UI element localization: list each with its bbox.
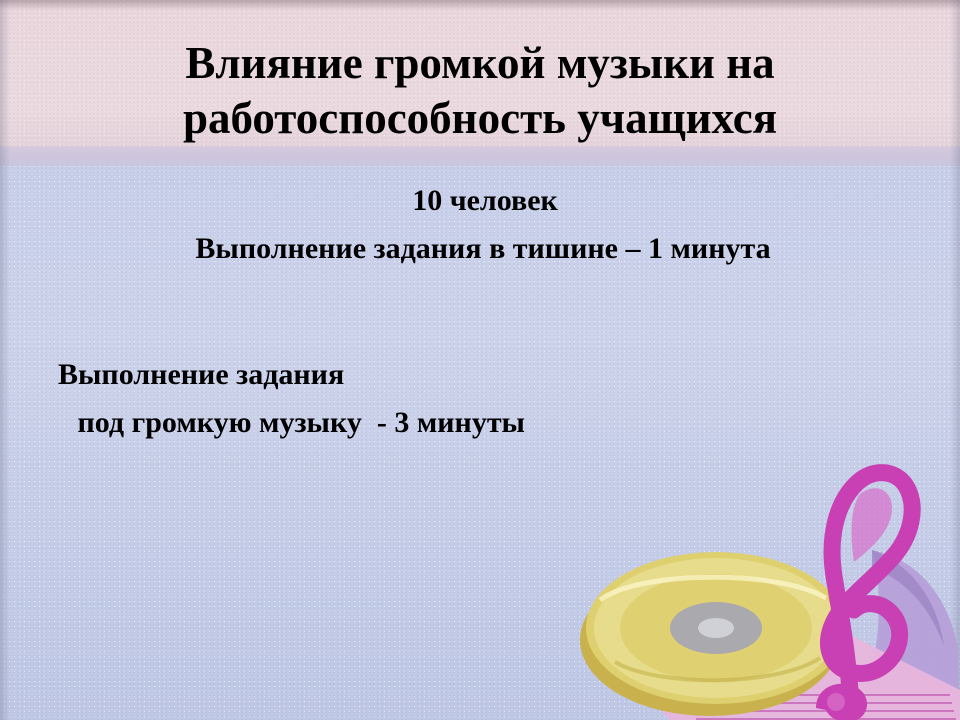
background-band-divider	[0, 146, 960, 168]
body-line-loud-music-task: под громкую музыку - 3 минуты	[0, 408, 960, 438]
body-line-silence-task: Выполнение задания в тишине – 1 минута	[0, 234, 960, 264]
body-line-participants: 10 человек	[0, 186, 960, 216]
slide-title: Влияние громкой музыки на работоспособно…	[60, 36, 900, 146]
background-edge-top	[0, 0, 960, 10]
presentation-slide: Влияние громкой музыки на работоспособно…	[0, 0, 960, 720]
slide-body: 10 человек Выполнение задания в тишине –…	[0, 186, 960, 438]
body-line-task-label: Выполнение задания	[0, 360, 960, 390]
